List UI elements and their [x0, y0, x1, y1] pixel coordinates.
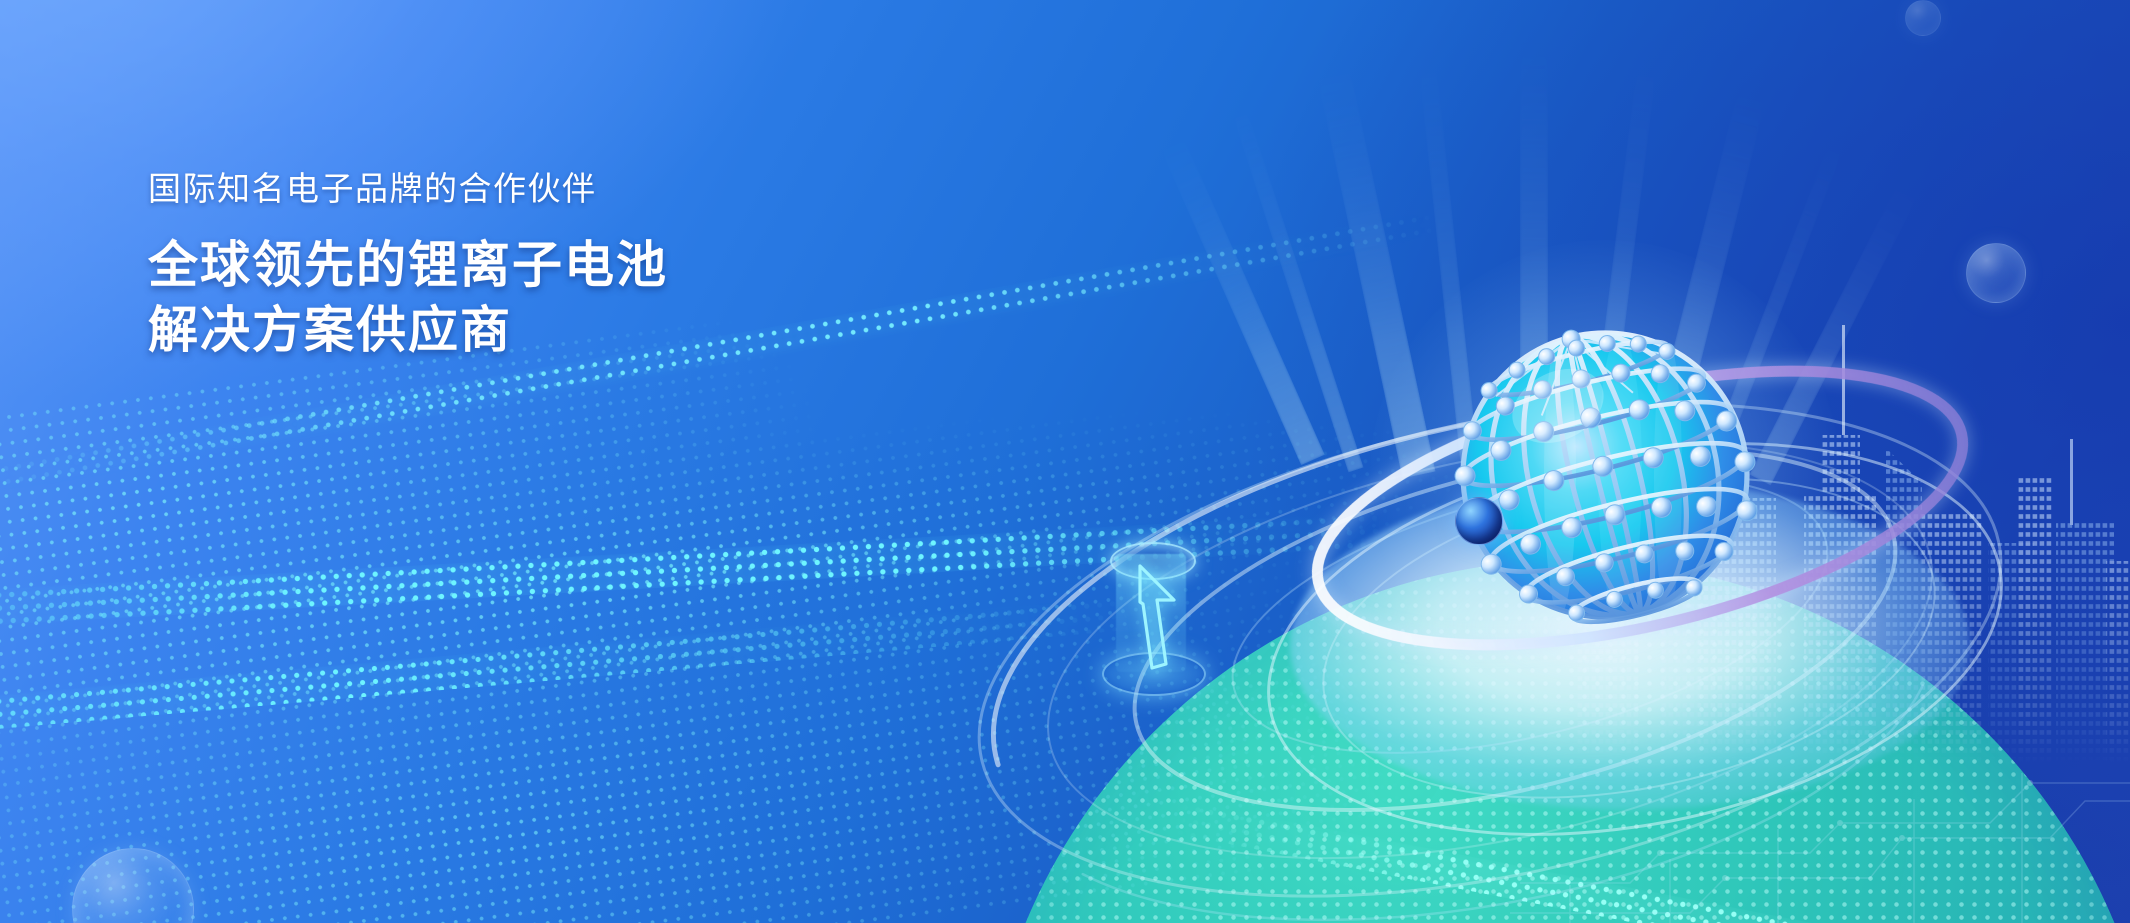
cursor-column-top-ellipse — [1110, 542, 1196, 580]
wireframe-globe-icon — [1440, 310, 1770, 640]
glass-bubble-small — [1905, 0, 1941, 36]
dot-wave-band-middle — [0, 511, 1390, 628]
upload-cursor-arrow-icon — [1130, 560, 1182, 672]
upload-cursor-column — [1108, 540, 1194, 690]
orbital-swirl-arcs — [930, 330, 2080, 923]
cursor-column-body — [1116, 554, 1186, 672]
headline-line-1: 全球领先的锂离子电池 — [148, 233, 908, 298]
cursor-column-base-ellipse — [1102, 652, 1206, 696]
circuit-trace-texture — [1510, 623, 2130, 923]
background-wash-bottom-right — [0, 0, 2130, 923]
glowing-platform-disc — [1290, 480, 1970, 810]
orbit-band — [1230, 330, 2050, 690]
teal-gradient-blob — [980, 560, 2130, 923]
teal-dot-texture — [980, 560, 2130, 923]
city-skyline-silhouette — [1570, 243, 2130, 763]
hero-copy: 国际知名电子品牌的合作伙伴 全球领先的锂离子电池 解决方案供应商 — [148, 168, 908, 363]
hero-banner: 国际知名电子品牌的合作伙伴 全球领先的锂离子电池 解决方案供应商 — [0, 0, 2130, 923]
glass-bubble-bottom-left — [72, 848, 194, 923]
background-wash-deep-right — [0, 0, 2130, 923]
page-title: 全球领先的锂离子电池 解决方案供应商 — [148, 233, 908, 363]
glass-bubble-top-right — [1966, 243, 2026, 303]
headline-line-2: 解决方案供应商 — [148, 298, 908, 363]
eyebrow-text: 国际知名电子品牌的合作伙伴 — [148, 168, 908, 209]
platform-inner-ring — [1295, 429, 1964, 846]
dot-wave-band-lower — [0, 595, 1138, 733]
globe-satellite-node — [1455, 497, 1503, 545]
background-wash-top-left — [0, 0, 2130, 923]
globe-halo — [1370, 240, 1840, 710]
teal-dot-wave-band — [1174, 800, 2130, 923]
platform-outer-ring — [1233, 384, 2037, 893]
